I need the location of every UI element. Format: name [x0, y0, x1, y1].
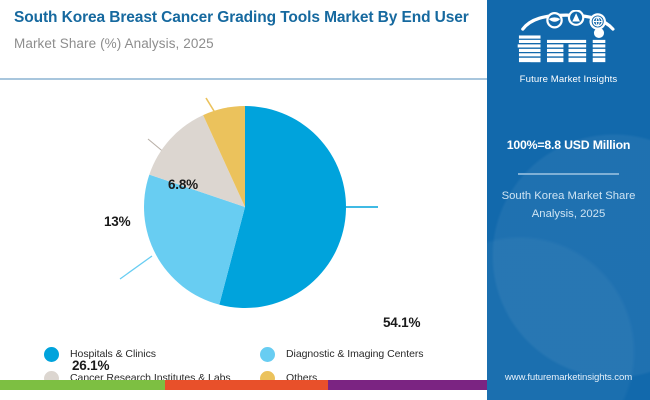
chart-header: South Korea Breast Cancer Grading Tools … — [14, 8, 469, 51]
strip-segment — [328, 380, 487, 390]
strip-segment — [165, 380, 328, 390]
fmi-logo: Future Market Insights — [487, 10, 650, 85]
legend-swatch-icon — [44, 347, 59, 362]
leader-line-diagnostic — [120, 256, 152, 279]
page-subtitle: Market Share (%) Analysis, 2025 — [14, 36, 469, 51]
slice-label-research: 13% — [104, 214, 130, 229]
legend-item[interactable]: Hospitals & Clinics — [44, 347, 260, 362]
pie-chart: 54.1% 26.1% 13% 6.8% — [0, 84, 487, 329]
legend-item-label: Hospitals & Clinics — [70, 348, 156, 360]
header-divider — [0, 78, 487, 80]
panel-divider — [518, 173, 619, 175]
legend-item-label: Diagnostic & Imaging Centers — [286, 348, 424, 360]
chart-panel: South Korea Breast Cancer Grading Tools … — [0, 0, 487, 390]
legend-swatch-icon — [260, 347, 275, 362]
legend-item[interactable]: Diagnostic & Imaging Centers — [260, 347, 474, 362]
website-url: www.futuremarketinsights.com — [487, 372, 650, 383]
total-value-label: 100%=8.8 USD Million — [487, 138, 650, 152]
fmi-logo-tagline: Future Market Insights — [487, 74, 650, 85]
pie-slices — [144, 106, 346, 308]
slice-label-others: 6.8% — [168, 177, 198, 192]
fmi-logo-icon — [505, 10, 632, 66]
pie-chart-svg — [0, 84, 487, 329]
page-title: South Korea Breast Cancer Grading Tools … — [14, 8, 469, 28]
slice-label-hospitals: 54.1% — [383, 315, 420, 330]
panel-caption: South Korea Market Share Analysis, 2025 — [487, 188, 650, 223]
bottom-color-strip — [0, 380, 487, 390]
brand-sidebar: Future Market Insights 100%=8.8 USD Mill… — [487, 0, 650, 400]
strip-segment — [0, 380, 165, 390]
